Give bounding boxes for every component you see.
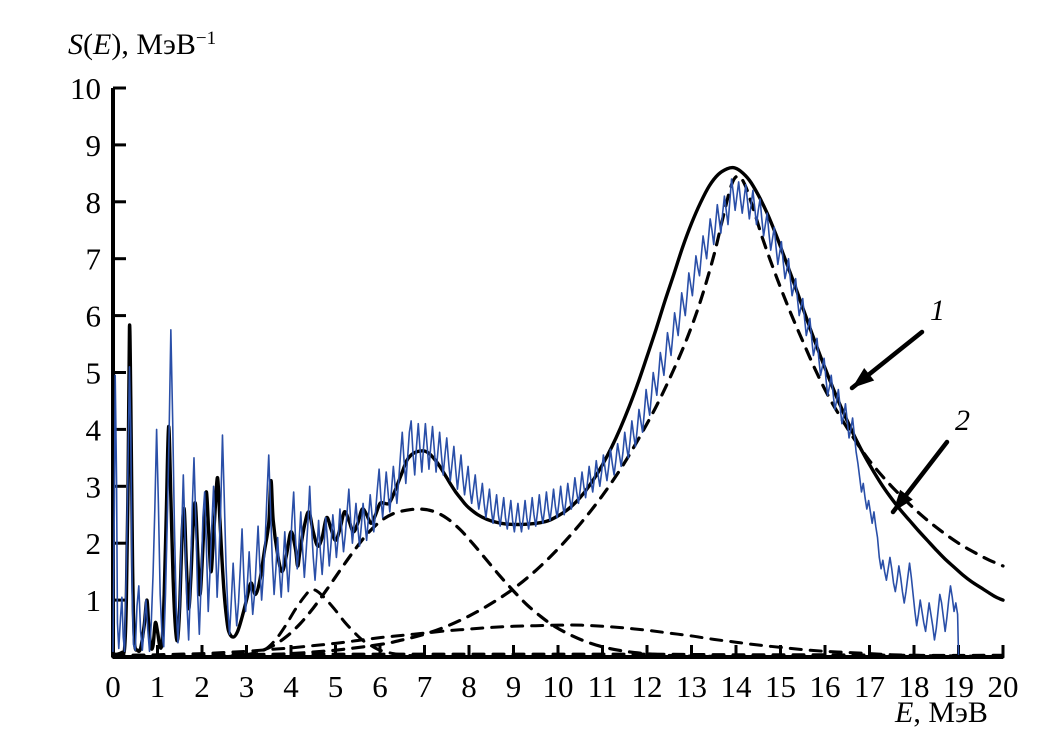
x-tick-label: 17 <box>854 669 885 704</box>
spectrum-plot: 0123456789101112131415161718192012345678… <box>0 0 1057 736</box>
y-tick-label: 10 <box>70 71 101 106</box>
series-2 <box>113 168 1003 655</box>
x-tick-label: 5 <box>328 669 344 704</box>
y-axis-title: S(E), МэВ−1 <box>68 28 216 61</box>
y-tick-label: 3 <box>86 469 102 504</box>
x-tick-label: 10 <box>543 669 574 704</box>
x-tick-label: 9 <box>506 669 522 704</box>
x-tick-label: 12 <box>632 669 663 704</box>
x-tick-label: 13 <box>676 669 707 704</box>
series-layer <box>113 168 1003 658</box>
annotation-label-1: 1 <box>930 294 945 327</box>
x-tick-label: 7 <box>417 669 433 704</box>
x-tick-label: 20 <box>988 669 1019 704</box>
x-axis-title: E, МэВ <box>894 696 988 729</box>
y-tick-label: 5 <box>86 356 102 391</box>
x-tick-label: 8 <box>461 669 477 704</box>
series-1 <box>113 179 959 654</box>
chart-figure: 0123456789101112131415161718192012345678… <box>0 0 1057 736</box>
x-tick-label: 16 <box>810 669 841 704</box>
x-tick-label: 14 <box>721 669 753 704</box>
x-tick-label: 4 <box>283 669 299 704</box>
x-tick-label: 3 <box>239 669 255 704</box>
y-tick-label: 1 <box>86 583 102 618</box>
x-tick-label: 0 <box>105 669 121 704</box>
y-tick-label: 8 <box>86 185 102 220</box>
annotation-label-2: 2 <box>955 404 970 437</box>
y-tick-label: 9 <box>86 128 102 163</box>
y-tick-label: 4 <box>86 412 102 447</box>
x-tick-label: 6 <box>372 669 388 704</box>
x-tick-label: 1 <box>150 669 166 704</box>
y-tick-label: 7 <box>86 242 102 277</box>
series-component-pygmy-7mev <box>224 509 1003 657</box>
label-layer: 0123456789101112131415161718192012345678… <box>70 71 1019 704</box>
x-tick-label: 11 <box>588 669 618 704</box>
x-tick-label: 15 <box>765 669 796 704</box>
y-tick-label: 2 <box>86 526 102 561</box>
y-tick-label: 6 <box>86 299 102 334</box>
x-tick-label: 2 <box>194 669 210 704</box>
